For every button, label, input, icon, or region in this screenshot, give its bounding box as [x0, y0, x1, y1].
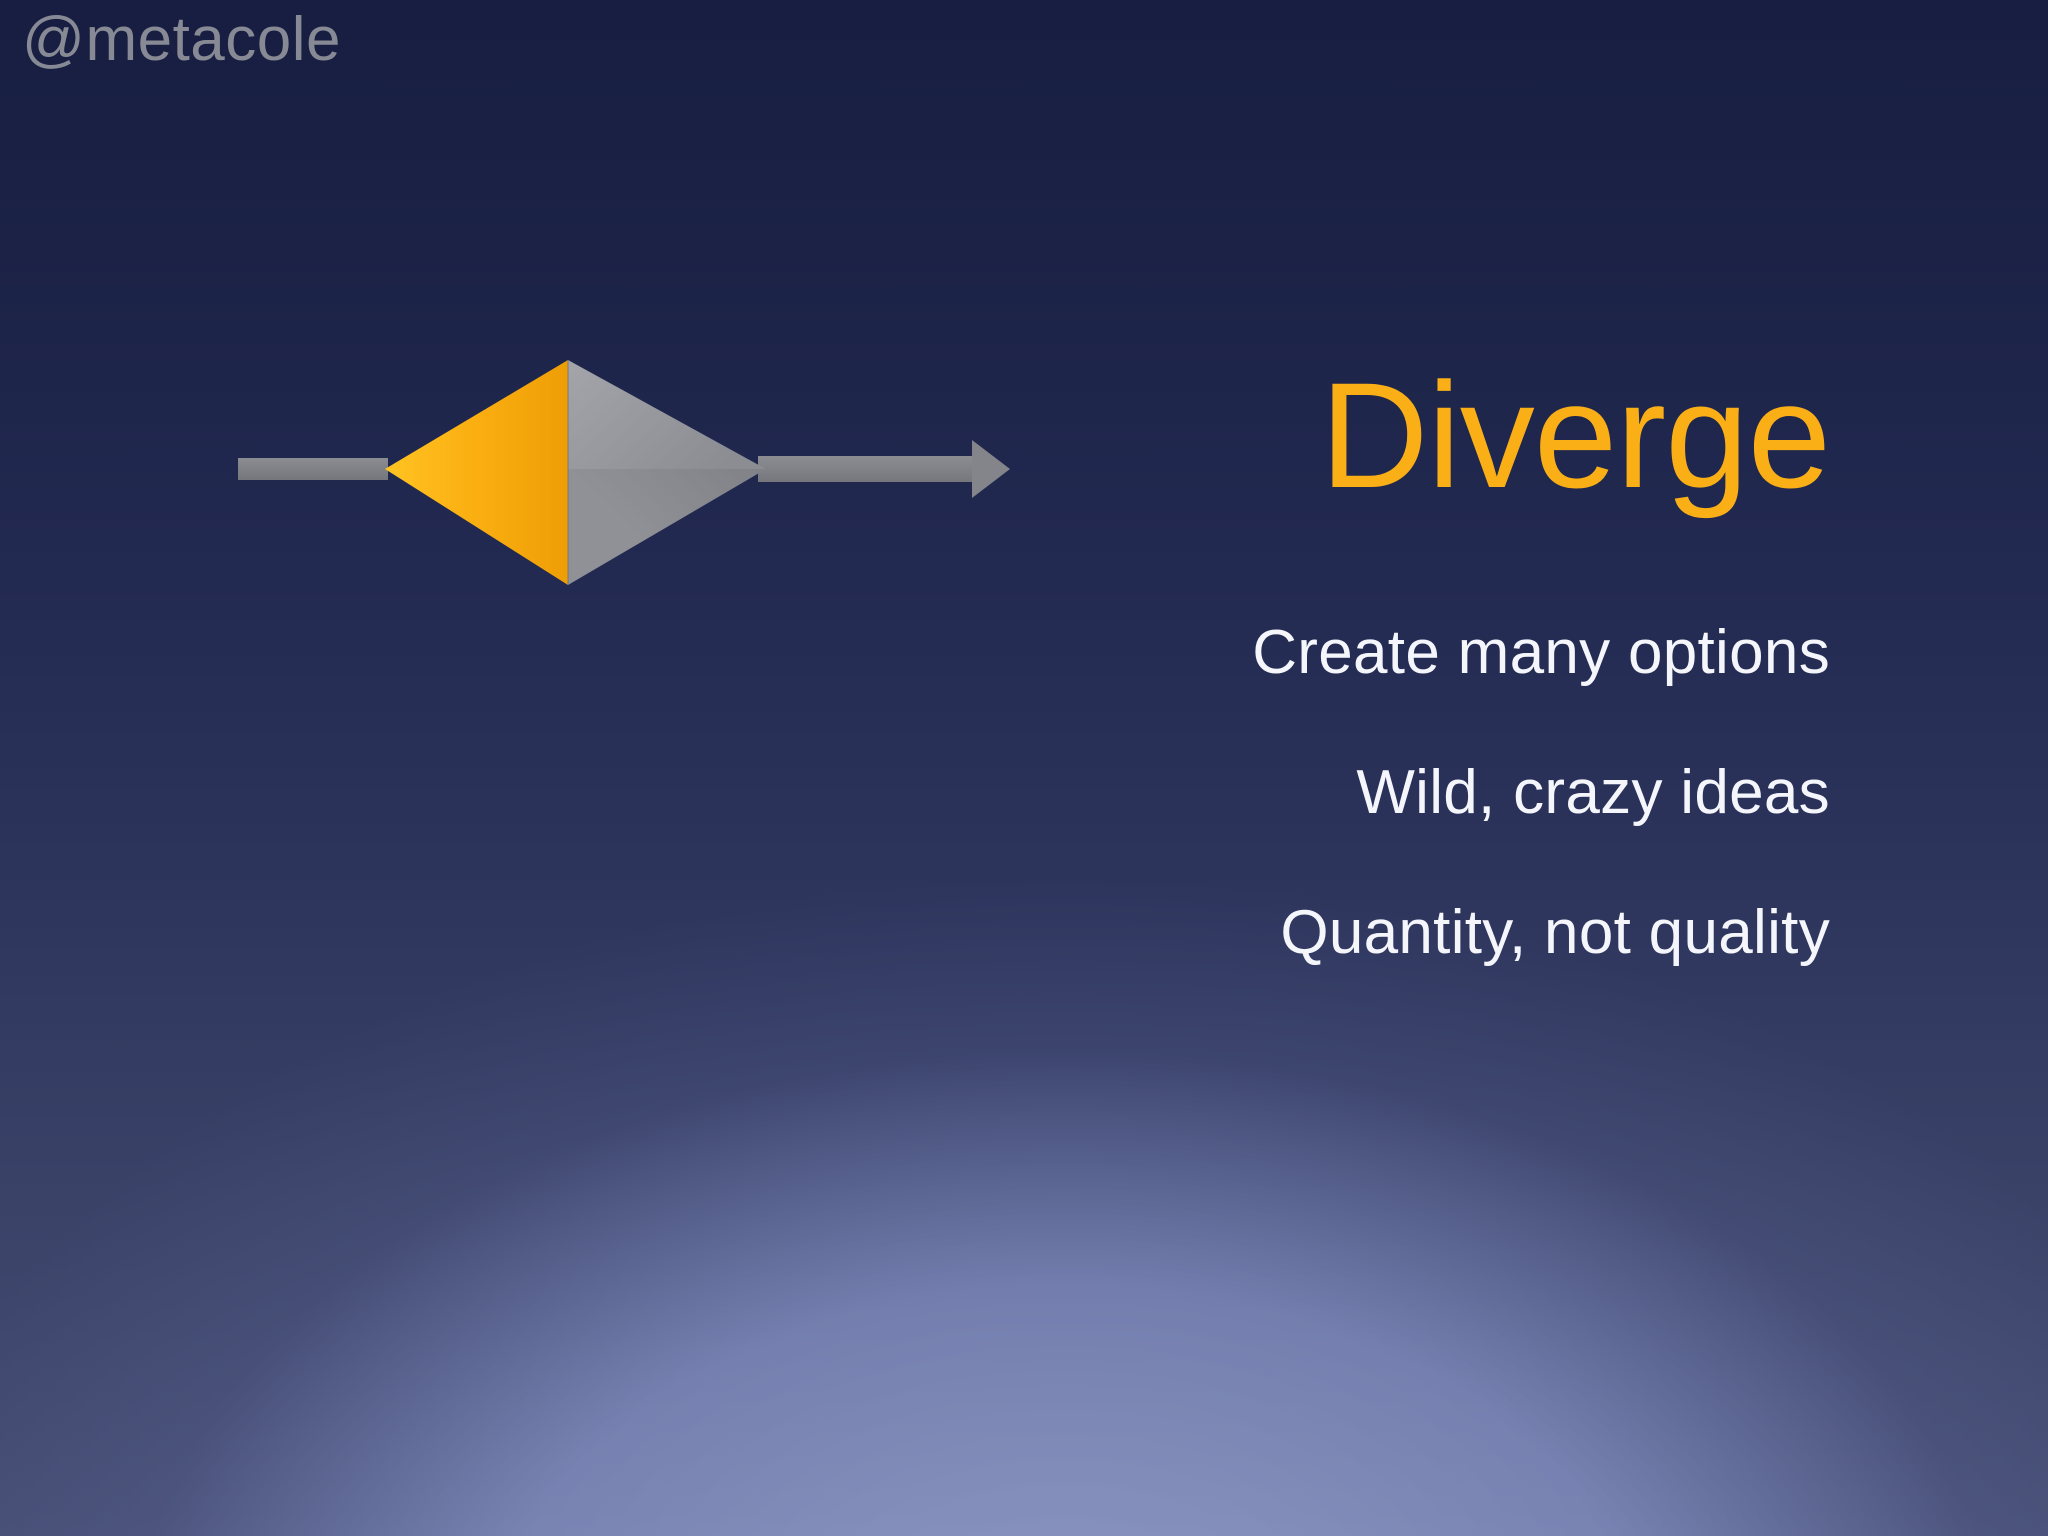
- bullet-list: Create many options Wild, crazy ideas Qu…: [900, 622, 1830, 964]
- author-handle: @metacole: [22, 4, 341, 75]
- diamond-right-half-upper-facet: [568, 360, 766, 469]
- slide-canvas: @metacole: [0, 0, 2048, 1536]
- bullet-item: Wild, crazy ideas: [900, 762, 1830, 824]
- slide-title: Diverge: [900, 360, 1830, 510]
- bullet-item: Create many options: [900, 622, 1830, 684]
- bullet-item: Quantity, not quality: [900, 902, 1830, 964]
- arrow-shaft-in: [238, 458, 388, 480]
- diamond-left-half-diverge: [385, 360, 568, 585]
- text-column: Diverge Create many options Wild, crazy …: [900, 360, 1830, 964]
- diamond-right-half-lower-facet: [568, 469, 766, 585]
